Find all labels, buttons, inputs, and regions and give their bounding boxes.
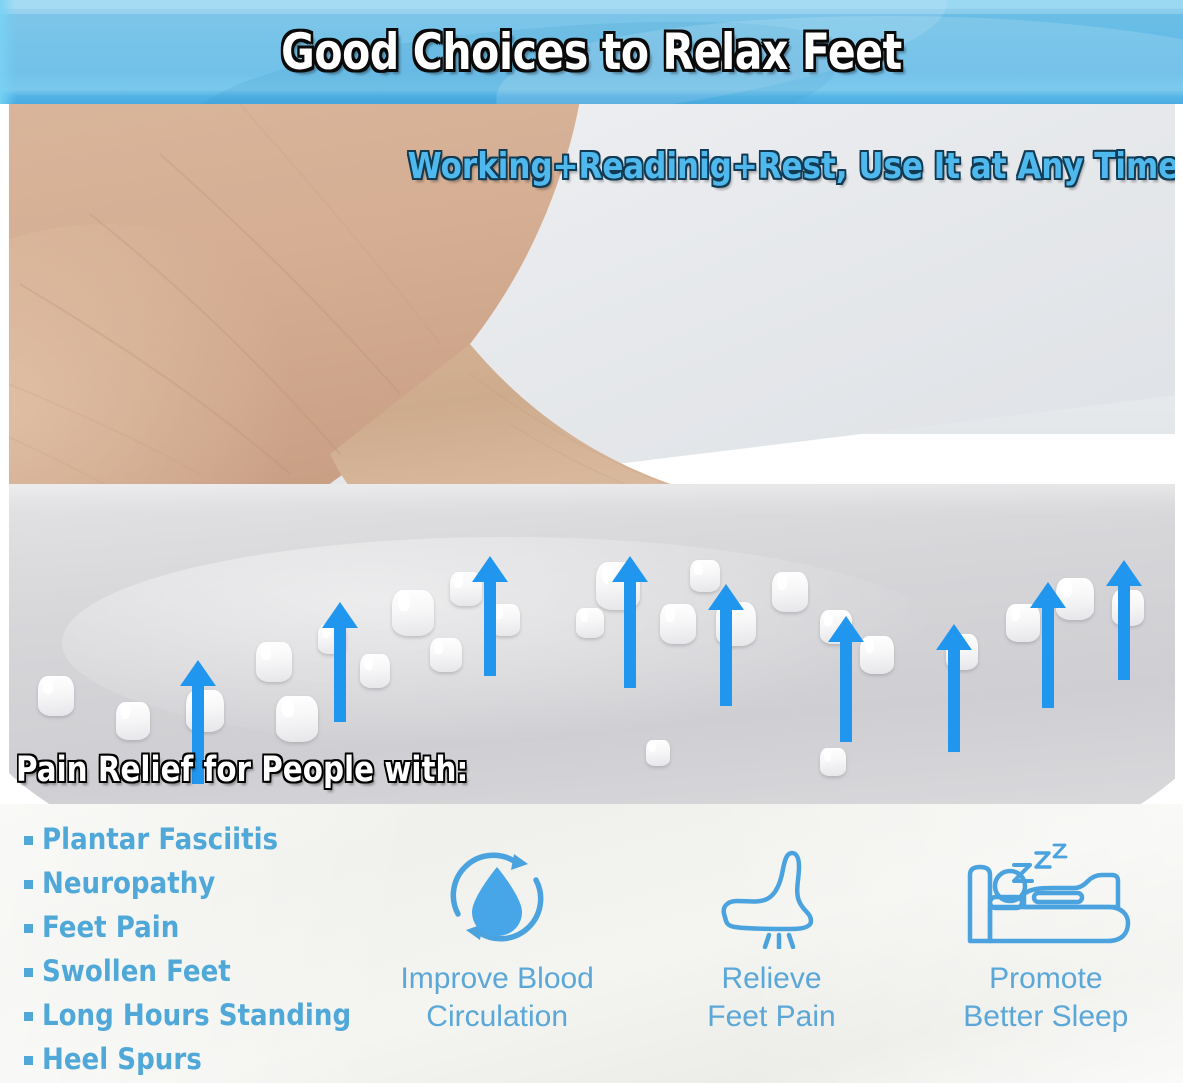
conditions-list: Plantar Fasciitis Neuropathy Feet Pain S… [24, 818, 385, 1082]
list-item: Feet Pain [24, 906, 385, 949]
list-item-label: Swollen Feet [42, 950, 231, 993]
arrow-shaft [334, 626, 346, 722]
list-item: Plantar Fasciitis [24, 818, 385, 861]
list-item-label: Feet Pain [42, 906, 179, 949]
arrow-shaft [840, 640, 852, 742]
benefit-label: Promote Better Sleep [963, 960, 1128, 1036]
arrow-shaft [484, 580, 496, 676]
benefit-item: Improve Blood Circulation [360, 838, 634, 1036]
massage-nub [860, 636, 894, 674]
bullet-square-icon [24, 924, 33, 933]
massage-nub [276, 696, 318, 742]
benefit-icon-wrap [707, 838, 835, 956]
benefit-label: Relieve Feet Pain [707, 960, 835, 1036]
photo-subtitle: Working+Readinig+Rest, Use It at Any Tim… [407, 146, 1179, 187]
massage-nub [116, 702, 150, 740]
banner-left-edge [0, 0, 16, 104]
massage-nub [430, 638, 462, 672]
water-drop-circulation-icon [436, 840, 558, 954]
massage-nub [256, 642, 292, 682]
pain-relief-headline: Pain Relief for People with: [16, 750, 468, 790]
massage-nub [38, 676, 74, 716]
benefit-item: Promote Better Sleep [909, 838, 1183, 1036]
benefit-label: Improve Blood Circulation [400, 960, 593, 1036]
list-item: Long Hours Standing [24, 994, 385, 1037]
massage-nub [392, 590, 434, 636]
product-marketing-image: Good Choices to Relax Feet [0, 0, 1183, 1083]
list-item-label: Heel Spurs [42, 1038, 202, 1081]
arrow-head-icon [472, 556, 508, 582]
photo-left-margin [0, 104, 9, 804]
arrow-head-icon [828, 616, 864, 642]
arrow-head-icon [322, 602, 358, 628]
header-banner: Good Choices to Relax Feet [0, 0, 1183, 104]
page-title: Good Choices to Relax Feet [106, 0, 1076, 104]
bullet-square-icon [24, 1056, 33, 1065]
arrow-shaft [624, 580, 636, 688]
foot-pain-relief-icon [707, 845, 835, 949]
arrow-head-icon [1030, 582, 1066, 608]
benefits-section: Plantar Fasciitis Neuropathy Feet Pain S… [0, 804, 1183, 1083]
product-photo: Working+Readinig+Rest, Use It at Any Tim… [0, 104, 1183, 804]
benefit-item: Relieve Feet Pain [634, 838, 908, 1036]
massage-nub [820, 748, 846, 776]
arrow-head-icon [612, 556, 648, 582]
person-sleeping-bed-icon [956, 841, 1136, 953]
massage-nub [660, 604, 696, 644]
massage-nub [646, 740, 670, 766]
massage-nub [1006, 604, 1040, 642]
arrow-head-icon [1106, 560, 1142, 586]
arrow-shaft [948, 648, 960, 752]
arrow-head-icon [180, 660, 216, 686]
benefits-row: Improve Blood Circulation Relieve Feet P… [360, 838, 1183, 1036]
arrow-shaft [1118, 584, 1130, 680]
massage-nub [772, 572, 808, 612]
massage-nub [576, 608, 604, 638]
bullet-square-icon [24, 836, 33, 845]
benefit-icon-wrap [956, 838, 1136, 956]
list-item-label: Plantar Fasciitis [42, 818, 278, 861]
list-item-label: Long Hours Standing [42, 994, 351, 1037]
arrow-shaft [1042, 606, 1054, 708]
massage-nub [360, 654, 390, 688]
list-item: Swollen Feet [24, 950, 385, 993]
bullet-square-icon [24, 1012, 33, 1021]
bullet-square-icon [24, 880, 33, 889]
photo-right-margin [1175, 104, 1183, 804]
list-item: Neuropathy [24, 862, 385, 905]
arrow-shaft [720, 608, 732, 706]
list-item-label: Neuropathy [42, 862, 215, 905]
arrow-head-icon [708, 584, 744, 610]
arrow-head-icon [936, 624, 972, 650]
list-item: Heel Spurs [24, 1038, 385, 1081]
bullet-square-icon [24, 968, 33, 977]
benefit-icon-wrap [436, 838, 558, 956]
